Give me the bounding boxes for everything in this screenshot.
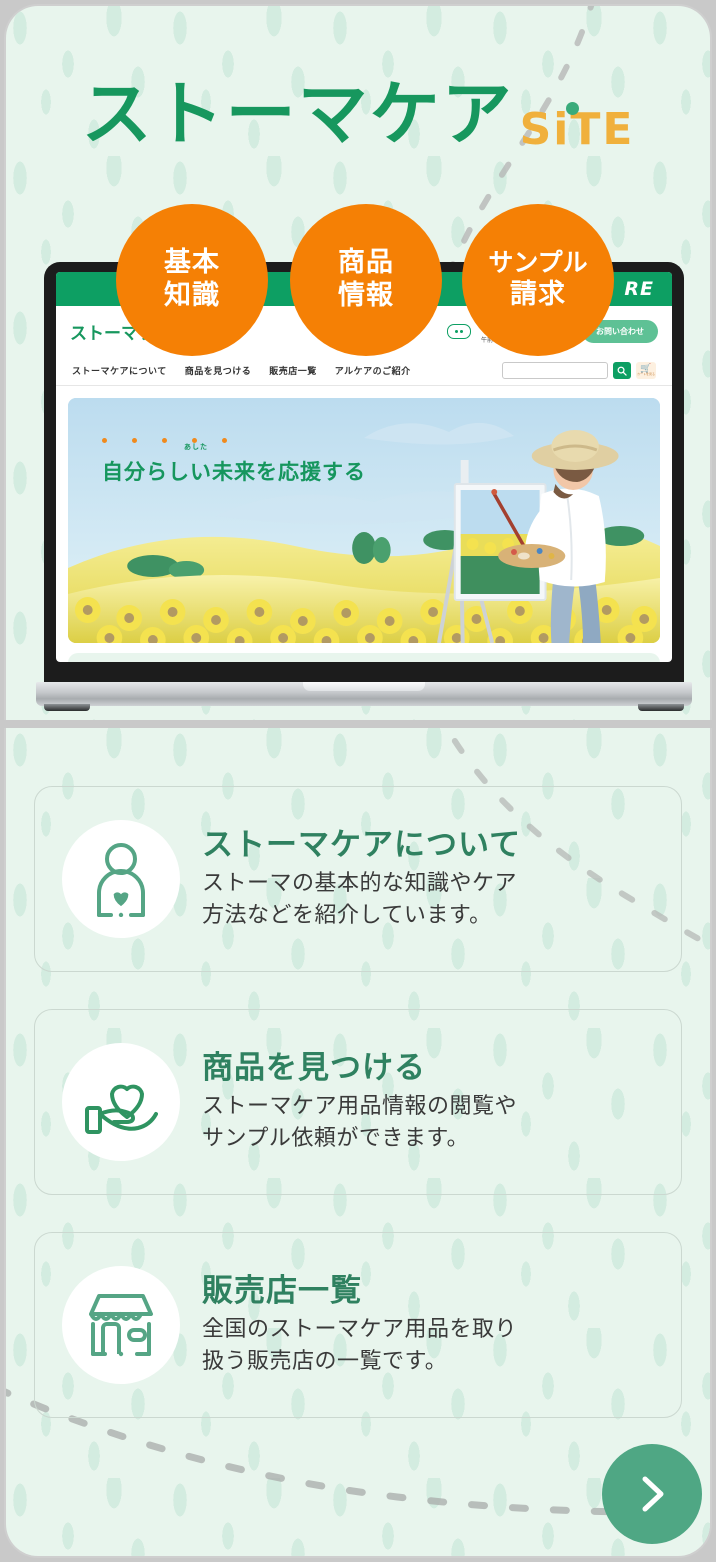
badge-product-info-line1: 商品 [338, 247, 394, 280]
card-store-list[interactable]: 販売店一覧 全国のストーマケア用品を取り 扱う販売店の一覧です。 [34, 1232, 682, 1418]
card-stores-text: 販売店一覧 全国のストーマケア用品を取り 扱う販売店の一覧です。 [202, 1273, 517, 1377]
site-nav: ストーマケアについて 商品を見つける 販売店一覧 アルケアのご紹介 🛒 カートを… [56, 356, 672, 386]
page-title: ストーマケアSiTE [6, 58, 710, 159]
card-stores-desc: 全国のストーマケア用品を取り 扱う販売店の一覧です。 [202, 1314, 517, 1376]
top-panel: ストーマケアSiTE RE ストーマケアSiTE [4, 4, 712, 720]
badge-product-info-line2: 情報 [338, 280, 394, 313]
card-stores-desc-line2: 扱う販売店の一覧です。 [202, 1346, 517, 1377]
card-products-desc: ストーマケア用品情報の閲覧や サンプル依頼ができます。 [202, 1091, 517, 1153]
site-nav-item-stores[interactable]: 販売店一覧 [269, 364, 317, 377]
badge-sample-request-line1: サンプル [488, 248, 587, 279]
search-input[interactable] [502, 362, 608, 379]
site-nav-item-about[interactable]: ストーマケアについて [72, 364, 167, 377]
laptop-foot-left [44, 704, 90, 711]
card-stores-desc-line1: 全国のストーマケア用品を取り [202, 1314, 517, 1345]
card-about-desc: ストーマの基本的な知識やケア 方法などを紹介しています。 [202, 868, 521, 930]
badge-sample-request-line2: 請求 [510, 279, 566, 312]
site-lower-block [68, 653, 660, 662]
card-products-text: 商品を見つける ストーマケア用品情報の閲覧や サンプル依頼ができます。 [202, 1050, 517, 1154]
cart-icon[interactable]: 🛒 カートを見る [636, 362, 656, 379]
site-nav-item-products[interactable]: 商品を見つける [185, 364, 252, 377]
badge-product-info[interactable]: 商品 情報 [290, 204, 442, 356]
freedial-icon [447, 324, 471, 339]
laptop-foot-right [638, 704, 684, 711]
app-frame: ストーマケアSiTE RE ストーマケアSiTE [0, 0, 716, 1562]
title-japanese: ストーマケア [82, 73, 514, 155]
chevron-right-icon [634, 1471, 670, 1517]
card-about-desc-line2: 方法などを紹介しています。 [202, 900, 521, 931]
hero-dots [102, 438, 227, 443]
title-english: SiTE [520, 104, 635, 155]
search-icon[interactable] [613, 362, 631, 379]
card-about-text: ストーマケアについて ストーマの基本的な知識やケア 方法などを紹介しています。 [202, 827, 521, 931]
card-products-title: 商品を見つける [202, 1050, 517, 1087]
card-stores-title: 販売店一覧 [202, 1273, 517, 1310]
storefront-icon [62, 1266, 180, 1384]
badge-basic-knowledge[interactable]: 基本 知識 [116, 204, 268, 356]
hero-headline: 自分らしい未来を応援する [102, 456, 366, 486]
laptop-notch [303, 682, 425, 691]
cart-label: カートを見る [637, 373, 655, 376]
site-hero-banner[interactable]: あした 自分らしい未来を応援する [68, 398, 660, 643]
hero-illustration [68, 398, 660, 643]
badge-sample-request[interactable]: サンプル 請求 [462, 204, 614, 356]
card-products-desc-line1: ストーマケア用品情報の閲覧や [202, 1091, 517, 1122]
hand-heart-icon [62, 1043, 180, 1161]
site-brandmark: RE [624, 278, 654, 300]
person-heart-icon [62, 820, 180, 938]
card-products-desc-line2: サンプル依頼ができます。 [202, 1123, 517, 1154]
badge-basic-knowledge-line2: 知識 [164, 280, 220, 313]
next-button[interactable] [602, 1444, 702, 1544]
badge-basic-knowledge-line1: 基本 [164, 247, 220, 280]
card-find-products[interactable]: 商品を見つける ストーマケア用品情報の閲覧や サンプル依頼ができます。 [34, 1009, 682, 1195]
hero-ruby-text: あした [184, 442, 208, 452]
card-about-title: ストーマケアについて [202, 827, 521, 864]
title-i-dot [566, 102, 579, 115]
site-search-group: 🛒 カートを見る [502, 362, 656, 379]
site-nav-item-company[interactable]: アルケアのご紹介 [335, 364, 411, 377]
card-about-stoma-care[interactable]: ストーマケアについて ストーマの基本的な知識やケア 方法などを紹介しています。 [34, 786, 682, 972]
card-about-desc-line1: ストーマの基本的な知識やケア [202, 868, 521, 899]
